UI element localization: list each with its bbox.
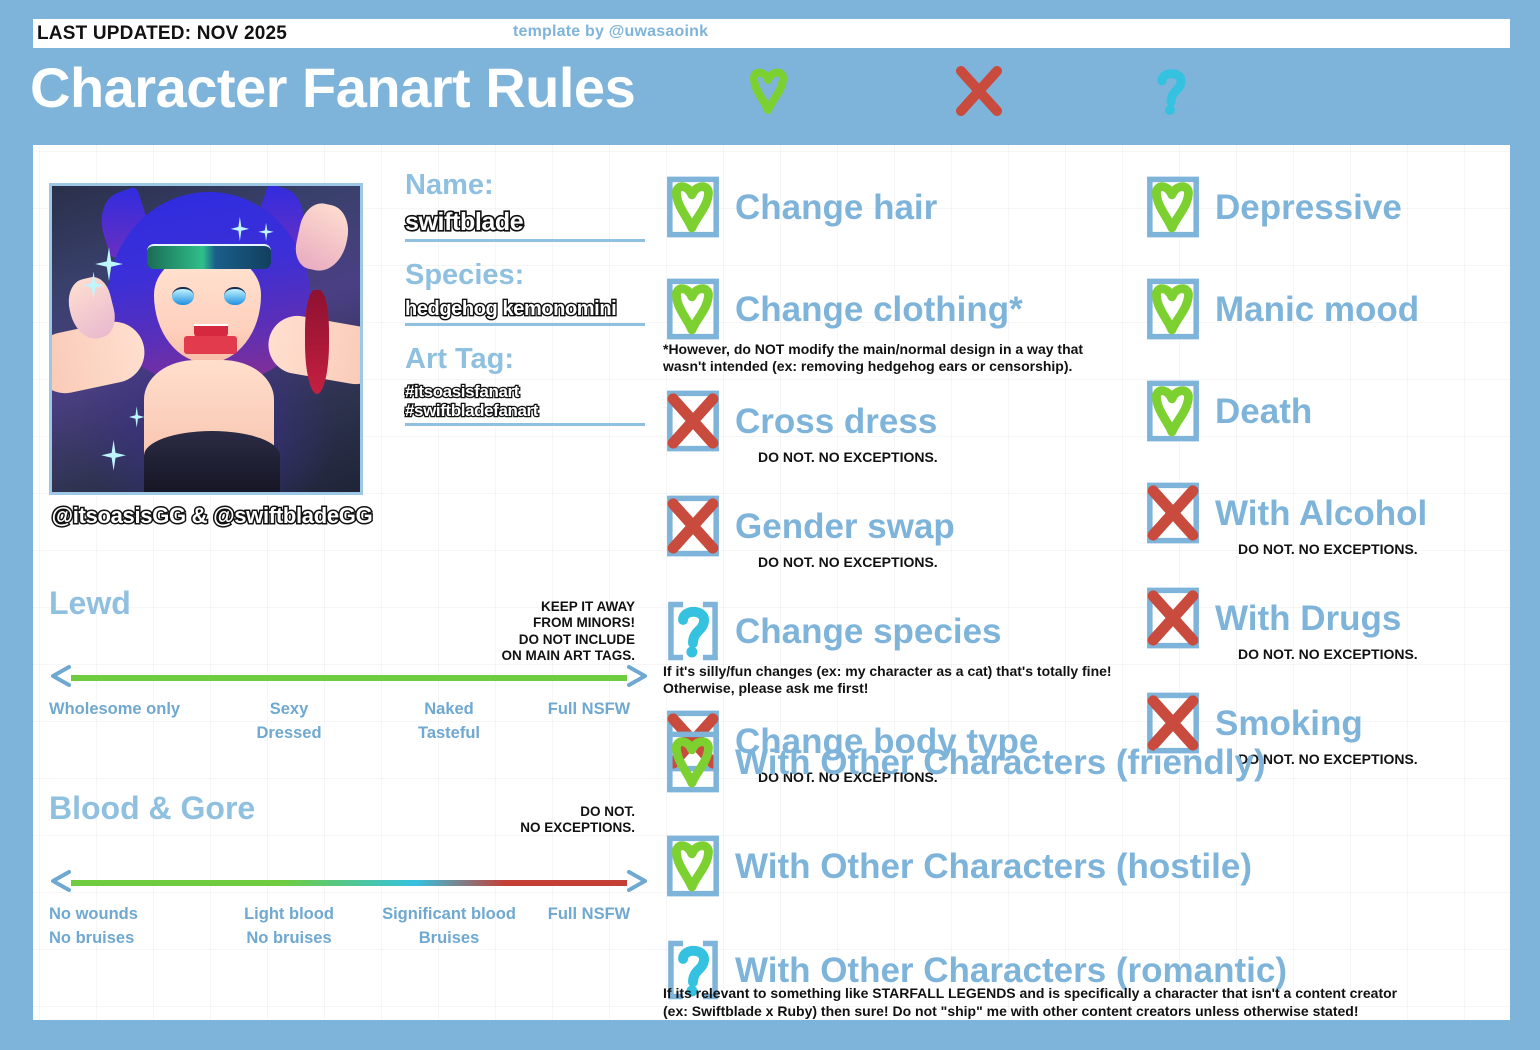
cross-no-icon [1143, 586, 1203, 650]
rule-note: DO NOT. NO EXCEPTIONS. [663, 449, 1153, 466]
legend-label-no: No [1016, 72, 1067, 110]
rule-other-characters-friendly[interactable]: With Other Characters (friendly) [663, 730, 1503, 794]
slider-label: Full NSFW [529, 903, 649, 951]
profile-fields: Name: swiftblade Species: hedgehog kemon… [405, 170, 655, 444]
rule-label: Death [1215, 394, 1312, 429]
legend-note-maybe: (Check in with me) [1342, 96, 1492, 116]
cross-no-icon [952, 62, 1006, 120]
footer-note: If its relevant to something like STARFA… [663, 985, 1503, 1020]
slider-label: Light blood No bruises [209, 903, 369, 951]
slider-labels-lewd: Wholesome only Sexy Dressed Naked Tastef… [49, 698, 649, 746]
rule-label: Change clothing* [735, 292, 1023, 327]
legend-item-no: No [952, 62, 1067, 120]
fanart-rules-page: LAST UPDATED: NOV 2025 template by @uwas… [0, 0, 1540, 1050]
slider-label: Wholesome only [49, 698, 209, 746]
cross-no-icon [663, 494, 723, 558]
arrow-right-icon [627, 664, 649, 693]
rule-cross-dress[interactable]: Cross dress DO NOT. NO EXCEPTIONS. [663, 389, 1153, 466]
rule-with-drugs[interactable]: With Drugs DO NOT. NO EXCEPTIONS. [1143, 586, 1510, 663]
slider-bar-lewd[interactable] [49, 662, 649, 694]
legend: Yes No Maybe (Check in with me) [742, 62, 1493, 132]
rule-label: With Other Characters (friendly) [735, 745, 1266, 780]
rule-change-clothing[interactable]: Change clothing* *However, do NOT modify… [663, 277, 1153, 375]
field-underline-name [405, 239, 645, 242]
field-underline-art-tag [405, 423, 645, 426]
rule-gender-swap[interactable]: Gender swap DO NOT. NO EXCEPTIONS. [663, 494, 1153, 571]
arrow-left-icon [49, 869, 71, 898]
slider-label: Naked Tasteful [369, 698, 529, 746]
rule-note: *However, do NOT modify the main/normal … [663, 341, 1153, 375]
field-value-art-tag: #itsoasisfanart #swiftbladefanart [405, 382, 655, 421]
legend-item-yes: Yes [742, 62, 872, 120]
slider-track-blood-gore [71, 880, 627, 886]
legend-item-maybe: Maybe (Check in with me) [1144, 62, 1492, 120]
field-name: Name: swiftblade [405, 170, 655, 242]
rule-label: Change hair [735, 190, 937, 225]
rule-with-alcohol[interactable]: With Alcohol DO NOT. NO EXCEPTIONS. [1143, 481, 1510, 558]
template-credit-text: template by @uwasaoink [513, 23, 708, 41]
field-species: Species: hedgehog kemonomini [405, 260, 655, 326]
rule-label: With Other Characters (hostile) [735, 849, 1252, 884]
field-value-name: swiftblade [405, 208, 655, 237]
rule-note: DO NOT. NO EXCEPTIONS. [663, 554, 1153, 571]
main-card: @itsoasisGG & @swiftbladeGG Name: swiftb… [33, 145, 1510, 1020]
rule-label: Depressive [1215, 190, 1402, 225]
rules-column-right: Depressive Manic mood Death [1143, 175, 1510, 768]
rule-label: With Drugs [1215, 601, 1401, 636]
rules-column-middle: Change hair Change clothing* *However, d… [663, 175, 1153, 787]
rule-label: With Alcohol [1215, 496, 1427, 531]
rule-label: With Other Characters (romantic) [735, 953, 1287, 988]
slider-label: Significant blood Bruises [369, 903, 529, 951]
slider-warning-blood-gore: DO NOT. NO EXCEPTIONS. [520, 804, 635, 837]
check-yes-icon [663, 277, 723, 341]
slider-label: Sexy Dressed [209, 698, 369, 746]
rule-note: If it's silly/fun changes (ex: my charac… [663, 663, 1153, 697]
portrait-frame [49, 183, 363, 495]
rule-label: Cross dress [735, 404, 937, 439]
question-maybe-icon [1144, 62, 1198, 120]
page-title: Character Fanart Rules [30, 60, 635, 116]
check-yes-icon [663, 730, 723, 794]
rule-label: Change species [735, 614, 1002, 649]
slider-label: Full NSFW [529, 698, 649, 746]
cross-no-icon [1143, 481, 1203, 545]
social-handles: @itsoasisGG & @swiftbladeGG [47, 503, 377, 529]
rule-label: Gender swap [735, 509, 955, 544]
field-label-species: Species: [405, 260, 655, 292]
check-yes-icon [1143, 379, 1203, 443]
rule-depressive[interactable]: Depressive [1143, 175, 1510, 239]
check-yes-icon [1143, 277, 1203, 341]
slider-labels-blood-gore: No wounds No bruises Light blood No brui… [49, 903, 649, 951]
rule-change-species[interactable]: Change species If it's silly/fun changes… [663, 599, 1153, 697]
slider-lewd: Lewd KEEP IT AWAY FROM MINORS! DO NOT IN… [49, 585, 649, 746]
slider-warning-lewd: KEEP IT AWAY FROM MINORS! DO NOT INCLUDE… [502, 599, 636, 665]
rule-change-hair[interactable]: Change hair [663, 175, 1153, 239]
slider-track-lewd [71, 675, 627, 681]
field-label-art-tag: Art Tag: [405, 344, 655, 376]
top-strip: LAST UPDATED: NOV 2025 template by @uwas… [33, 19, 1510, 48]
slider-blood-gore: Blood & Gore DO NOT. NO EXCEPTIONS. No w… [49, 790, 649, 951]
question-maybe-icon [663, 599, 723, 663]
rule-manic-mood[interactable]: Manic mood [1143, 277, 1510, 341]
field-underline-species [405, 323, 645, 326]
check-yes-icon [663, 834, 723, 898]
character-portrait [52, 186, 360, 492]
rule-other-characters-hostile[interactable]: With Other Characters (hostile) [663, 834, 1503, 898]
field-label-name: Name: [405, 170, 655, 202]
rule-label: Manic mood [1215, 292, 1419, 327]
cross-no-icon [663, 389, 723, 453]
legend-label-maybe: Maybe [1208, 72, 1326, 110]
check-yes-icon [663, 175, 723, 239]
arrow-right-icon [627, 869, 649, 898]
check-yes-icon [1143, 175, 1203, 239]
rules-row-with-other-characters: With Other Characters (friendly) With Ot… [663, 730, 1503, 1002]
legend-label-yes: Yes [806, 72, 872, 110]
check-yes-icon [742, 62, 796, 120]
arrow-left-icon [49, 664, 71, 693]
field-art-tag: Art Tag: #itsoasisfanart #swiftbladefana… [405, 344, 655, 426]
slider-label: No wounds No bruises [49, 903, 209, 951]
rule-death[interactable]: Death [1143, 379, 1510, 443]
field-value-species: hedgehog kemonomini [405, 298, 655, 321]
last-updated-text: LAST UPDATED: NOV 2025 [33, 23, 287, 45]
slider-bar-blood-gore[interactable] [49, 867, 649, 899]
